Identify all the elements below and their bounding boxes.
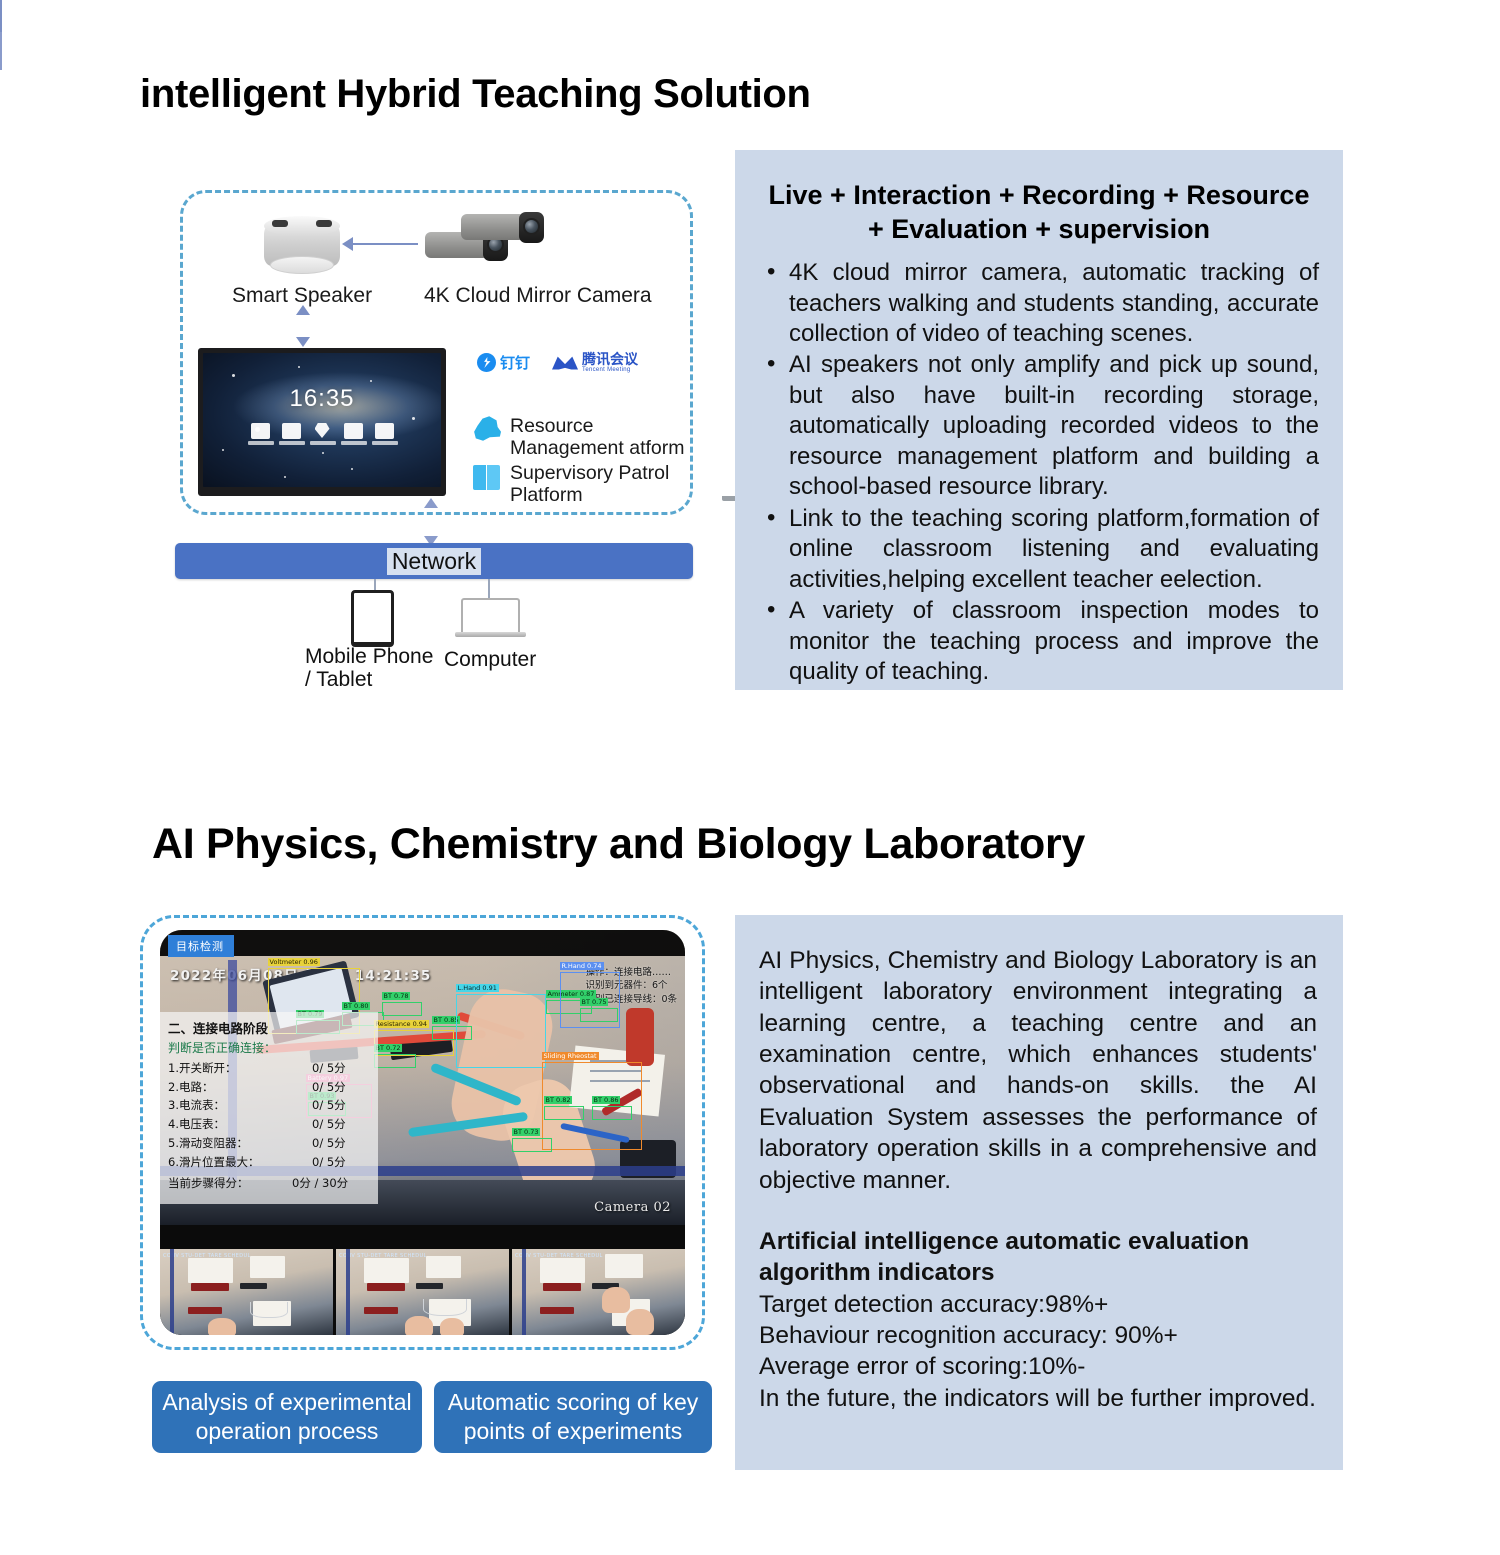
resource-management-label: Resource Management atform [510, 415, 695, 459]
hybrid-teaching-info-panel: Live + Interaction + Recording + Resourc… [735, 150, 1343, 690]
lab-description-paragraph: AI Physics, Chemistry and Biology Labora… [759, 945, 1317, 1196]
action-track-thumbnails: CONV STU-DET TARE SCHEDUL CONV STU-DET T… [160, 1225, 685, 1335]
smart-speaker-icon [258, 212, 346, 274]
more-apps-icon [375, 423, 394, 439]
overlay-stage-title: 二、连接电路阶段 [168, 1018, 370, 1037]
window-app-icon [344, 423, 363, 439]
detection-box: R.Hand 0.74 [560, 972, 620, 1028]
dingtalk-icon [477, 353, 496, 372]
arrow-head-up-icon [296, 305, 310, 315]
lab-algorithm-heading: Artificial intelligence automatic evalua… [759, 1226, 1317, 1289]
metric-average-error: Average error of scoring:10%- [759, 1351, 1317, 1382]
bullet-item: A variety of classroom inspection modes … [789, 596, 1319, 687]
arrow-head-up-icon-2 [424, 498, 438, 508]
display-clock: 16:35 [203, 385, 441, 413]
overlay-score-row: 1.开关断开： 0/ 5分 [168, 1059, 370, 1078]
dingtalk-logo: 钉钉 [477, 352, 530, 373]
whiteboard-app-icon [251, 423, 270, 439]
metric-target-detection: Target detection accuracy:98%+ [759, 1289, 1317, 1320]
arrow-head-down-icon [296, 337, 310, 347]
bullet-item: AI speakers not only amplify and pick up… [789, 350, 1319, 502]
overlay-score-row: 6.滑片位置最大： 0/ 5分 [168, 1153, 370, 1172]
interactive-display-panel: 16:35 [198, 348, 446, 496]
network-bar: Network [175, 543, 693, 579]
overlay-total-row: 当前步骤得分： 0分 / 30分 [168, 1175, 370, 1191]
arrow-head-left-icon [342, 237, 353, 251]
detection-box: BT 0.72 [374, 1054, 416, 1068]
dingtalk-label: 钉钉 [500, 352, 530, 373]
metric-behaviour-recognition: Behaviour recognition accuracy: 90%+ [759, 1320, 1317, 1351]
detection-box: BT 0.78 [382, 1002, 422, 1016]
resource-cloud-icon [473, 415, 501, 445]
lab-info-panel: AI Physics, Chemistry and Biology Labora… [735, 915, 1343, 1470]
supervisory-patrol-label: Supervisory Patrol Platform [510, 462, 695, 506]
hybrid-panel-bullet-list: 4K cloud mirror camera, automatic tracki… [755, 258, 1323, 688]
computer-label: Computer [444, 648, 536, 672]
computer-icon [455, 598, 526, 640]
lab-video-main-view: 目标检测 2022年06月08日 星期三 14:21:35 操作：连接电路…… … [160, 930, 685, 1225]
network-label: Network [387, 548, 481, 575]
thumbnail-frame[interactable]: CONV STU-DET TARE SCHEDUL [160, 1249, 333, 1335]
tencent-meeting-icon [552, 356, 578, 370]
arrow-speaker-to-display [0, 0, 2, 32]
mobile-phone-icon [351, 590, 394, 647]
book-icon [473, 462, 501, 492]
overlay-score-row: 3.电流表： 0/ 5分 [168, 1096, 370, 1115]
detection-box: BT 0.82 [544, 1106, 584, 1120]
connector-computer [488, 579, 490, 599]
bullet-item: Link to the teaching scoring platform,fo… [789, 504, 1319, 595]
arrow-display-to-network [0, 32, 2, 70]
tencent-meeting-logo: 腾讯会议 Tencent Meeting [552, 352, 638, 373]
detection-box: BT 0.73 [512, 1138, 552, 1152]
thumbnail-frame[interactable]: CONV STU-DET TARE SCHEDUL [336, 1249, 509, 1335]
analysis-of-experimental-operation-process-button[interactable]: Analysis of experimental operation proce… [152, 1381, 422, 1453]
lab-video-player[interactable]: 目标检测 2022年06月08日 星期三 14:21:35 操作：连接电路…… … [160, 930, 685, 1335]
scoring-overlay: 二、连接电路阶段 判断是否正确连接： 1.开关断开： 0/ 5分 2.电路： 0… [160, 1012, 378, 1204]
platform-row-supervisory-patrol: Supervisory Patrol Platform [473, 462, 695, 506]
files-app-icon [282, 423, 301, 439]
conferencing-logos: 钉钉 腾讯会议 Tencent Meeting [477, 352, 638, 373]
arrow-camera-to-speaker [350, 243, 418, 245]
bullet-item: 4K cloud mirror camera, automatic tracki… [789, 258, 1319, 349]
lab-closing-text: In the future, the indicators will be fu… [759, 1383, 1317, 1414]
display-screen: 16:35 [203, 353, 441, 487]
detection-box: L.Hand 0.91 [456, 994, 546, 1068]
overlay-score-row: 4.电压表： 0/ 5分 [168, 1115, 370, 1134]
overlay-score-row: 2.电路： 0/ 5分 [168, 1078, 370, 1097]
display-app-icons [203, 423, 441, 439]
cloud-mirror-camera-icon [425, 210, 553, 272]
camera-watermark: Camera 02 [594, 1200, 671, 1215]
mobile-phone-label: Mobile Phone / Tablet [305, 645, 435, 691]
hybrid-panel-heading: Live + Interaction + Recording + Resourc… [759, 178, 1319, 246]
target-detection-tag: 目标检测 [168, 935, 234, 957]
diamond-app-icon [313, 423, 332, 439]
page-title-hybrid-teaching: intelligent Hybrid Teaching Solution [140, 72, 811, 117]
cloud-mirror-camera-label: 4K Cloud Mirror Camera [424, 284, 652, 308]
automatic-scoring-of-key-points-button[interactable]: Automatic scoring of key points of exper… [434, 1381, 712, 1453]
page-title-ai-laboratory: AI Physics, Chemistry and Biology Labora… [152, 820, 1085, 869]
overlay-stage-subtitle: 判断是否正确连接： [168, 1039, 370, 1056]
detection-box: BT 0.86 [592, 1106, 632, 1120]
thumbnail-frame[interactable]: CONV STU-DET TARE SCHEDUL [512, 1249, 685, 1335]
platform-row-resource-management: Resource Management atform [473, 415, 695, 459]
tencent-meeting-label-cn: 腾讯会议 [582, 352, 638, 366]
tencent-meeting-label-en: Tencent Meeting [582, 367, 638, 373]
overlay-score-row: 5.滑动变阻器： 0/ 5分 [168, 1134, 370, 1153]
